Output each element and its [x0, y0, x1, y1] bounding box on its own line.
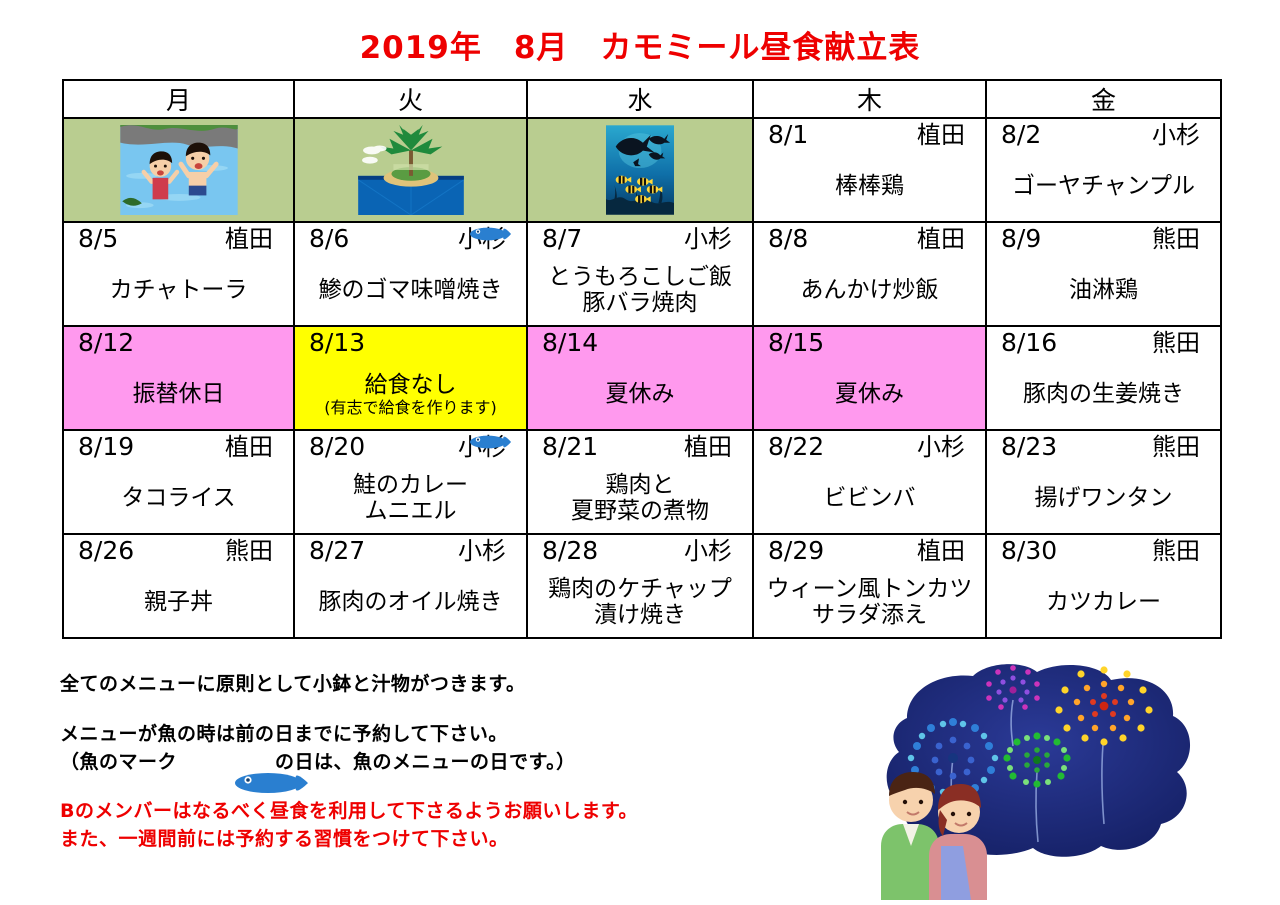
day-date: 8/20: [309, 434, 365, 459]
day-menu-main: 夏休み: [835, 382, 904, 408]
calendar-day-cell[interactable]: 8/19植田タコライス: [63, 430, 294, 534]
day-date: 8/14: [542, 330, 598, 355]
calendar-day-cell[interactable]: 8/12振替休日: [63, 326, 294, 430]
day-menu-text: あんかけ炒飯: [754, 261, 985, 321]
weekday-header-wed: 水: [527, 80, 753, 118]
day-cell-header: 8/27小杉: [295, 535, 526, 567]
day-staff-name: 熊田: [1152, 227, 1206, 251]
day-menu-text: ウィーン風トンカツ サラダ添え: [754, 573, 985, 633]
day-menu-text: カツカレー: [987, 573, 1220, 633]
day-menu-main: カチャトーラ: [110, 278, 248, 304]
day-menu-text: 給食なし(有志で給食を作ります): [295, 365, 526, 425]
day-cell-header: 8/2小杉: [987, 119, 1220, 151]
day-staff-name: 小杉: [458, 539, 512, 563]
day-date: 8/1: [768, 122, 808, 147]
day-cell-header: 8/21植田: [528, 431, 752, 463]
day-cell-header: 8/5植田: [64, 223, 293, 255]
day-cell-header: 8/26熊田: [64, 535, 293, 567]
day-menu-text: 油淋鶏: [987, 261, 1220, 321]
fish-icon: [466, 223, 514, 245]
day-cell-header: 8/1植田: [754, 119, 985, 151]
note-side-dishes: 全てのメニューに原則として小鉢と汁物がつきます。: [60, 672, 820, 698]
calendar-day-cell[interactable]: 8/29植田ウィーン風トンカツ サラダ添え: [753, 534, 986, 638]
day-menu-text: 鶏肉と 夏野菜の煮物: [528, 469, 752, 529]
day-date: 8/2: [1001, 122, 1041, 147]
calendar-day-cell[interactable]: 8/14夏休み: [527, 326, 753, 430]
day-menu-main: とうもろこしご飯 豚バラ焼肉: [548, 265, 732, 317]
day-staff-name: 熊田: [1152, 331, 1206, 355]
calendar-day-cell[interactable]: 8/20小杉鮭のカレー ムニエル: [294, 430, 527, 534]
day-menu-note: (有志で給食を作ります): [324, 399, 497, 417]
calendar-day-cell[interactable]: 8/8植田あんかけ炒飯: [753, 222, 986, 326]
day-menu-text: 鯵のゴマ味噌焼き: [295, 261, 526, 321]
calendar-day-cell[interactable]: 8/9熊田油淋鶏: [986, 222, 1221, 326]
calendar-day-cell[interactable]: 8/6小杉鯵のゴマ味噌焼き: [294, 222, 527, 326]
calendar-week-row: 8/19植田タコライス8/20小杉鮭のカレー ムニエル 8/21植田鶏肉と 夏野…: [63, 430, 1221, 534]
calendar-day-cell[interactable]: 8/5植田カチャトーラ: [63, 222, 294, 326]
day-menu-main: 振替休日: [133, 382, 225, 408]
calendar-day-cell[interactable]: 8/1植田棒棒鶏: [753, 118, 986, 222]
day-staff-name: 熊田: [1152, 435, 1206, 459]
day-menu-text: とうもろこしご飯 豚バラ焼肉: [528, 261, 752, 321]
calendar-day-cell[interactable]: 8/16熊田豚肉の生姜焼き: [986, 326, 1221, 430]
day-date: 8/9: [1001, 226, 1041, 251]
day-staff-name: 熊田: [225, 539, 279, 563]
couple-figure: [881, 772, 987, 900]
day-staff-name: 小杉: [684, 539, 738, 563]
day-menu-main: ウィーン風トンカツ サラダ添え: [767, 577, 973, 629]
calendar-day-cell[interactable]: 8/26熊田親子丼: [63, 534, 294, 638]
day-menu-main: ビビンバ: [824, 486, 916, 512]
day-date: 8/21: [542, 434, 598, 459]
day-menu-main: 鯵のゴマ味噌焼き: [319, 278, 503, 304]
day-staff-name: 小杉: [1152, 123, 1206, 147]
fish-icon: [183, 748, 269, 774]
note-request-week-ahead: また、一週間前には予約する習慣をつけて下さい。: [60, 826, 820, 854]
day-menu-text: ビビンバ: [754, 469, 985, 529]
tropical-island-illustration: [294, 118, 527, 222]
day-date: 8/13: [309, 330, 365, 355]
day-date: 8/6: [309, 226, 349, 251]
day-cell-header: 8/14: [528, 327, 752, 359]
day-menu-text: ゴーヤチャンプル: [987, 157, 1220, 217]
kids-swimming-illustration: [64, 119, 293, 221]
calendar-body: 8/1植田棒棒鶏8/2小杉ゴーヤチャンプル8/5植田カチャトーラ8/6小杉鯵のゴ…: [63, 118, 1221, 638]
weekday-header-fri: 金: [986, 80, 1221, 118]
day-menu-text: 親子丼: [64, 573, 293, 633]
day-cell-header: 8/30熊田: [987, 535, 1220, 567]
day-date: 8/5: [78, 226, 118, 251]
day-menu-main: 親子丼: [144, 590, 213, 616]
calendar-week-row: 8/12振替休日8/13給食なし(有志で給食を作ります)8/14夏休み8/15夏…: [63, 326, 1221, 430]
day-date: 8/16: [1001, 330, 1057, 355]
day-cell-header: 8/22小杉: [754, 431, 985, 463]
day-date: 8/27: [309, 538, 365, 563]
day-cell-header: 8/23熊田: [987, 431, 1220, 463]
day-date: 8/28: [542, 538, 598, 563]
day-menu-text: 夏休み: [528, 365, 752, 425]
day-staff-name: 植田: [917, 539, 971, 563]
day-date: 8/8: [768, 226, 808, 251]
calendar-header-row: 月 火 水 木 金: [63, 80, 1221, 118]
day-staff-name: 熊田: [1152, 539, 1206, 563]
underwater-sharks-illustration: [527, 118, 753, 222]
day-staff-name: 小杉: [684, 227, 738, 251]
day-menu-main: 給食なし: [365, 373, 457, 399]
day-menu-text: 豚肉の生姜焼き: [987, 365, 1220, 425]
day-menu-main: ゴーヤチャンプル: [1012, 174, 1195, 200]
underwater-sharks-illustration: [528, 119, 752, 221]
calendar-day-cell[interactable]: 8/23熊田揚げワンタン: [986, 430, 1221, 534]
day-date: 8/22: [768, 434, 824, 459]
calendar-table: 月 火 水 木 金: [62, 79, 1222, 639]
calendar-week-row: 8/1植田棒棒鶏8/2小杉ゴーヤチャンプル: [63, 118, 1221, 222]
day-staff-name: 植田: [917, 123, 971, 147]
calendar-day-cell[interactable]: 8/22小杉ビビンバ: [753, 430, 986, 534]
note-fish-legend-before: （魚のマーク: [60, 747, 177, 774]
calendar-day-cell[interactable]: 8/7小杉とうもろこしご飯 豚バラ焼肉: [527, 222, 753, 326]
note-fish-legend-after: の日は、魚のメニューの日です。）: [275, 747, 576, 774]
day-cell-header: 8/19植田: [64, 431, 293, 463]
day-cell-header: 8/7小杉: [528, 223, 752, 255]
day-menu-text: タコライス: [64, 469, 293, 529]
day-cell-header: 8/29植田: [754, 535, 985, 567]
day-menu-text: 振替休日: [64, 365, 293, 425]
day-menu-main: 揚げワンタン: [1035, 486, 1173, 512]
calendar-week-row: 8/5植田カチャトーラ8/6小杉鯵のゴマ味噌焼き 8/7小杉とうもろこしご飯 豚…: [63, 222, 1221, 326]
calendar-day-cell[interactable]: 8/13給食なし(有志で給食を作ります): [294, 326, 527, 430]
day-date: 8/19: [78, 434, 134, 459]
day-cell-header: 8/28小杉: [528, 535, 752, 567]
day-menu-main: 棒棒鶏: [835, 174, 904, 200]
day-menu-text: 夏休み: [754, 365, 985, 425]
weekday-header-thu: 木: [753, 80, 986, 118]
day-date: 8/15: [768, 330, 824, 355]
weekday-header-tue: 火: [294, 80, 527, 118]
day-cell-header: 8/9熊田: [987, 223, 1220, 255]
page-title: 2019年 8月 カモミール昼食献立表: [0, 22, 1280, 67]
calendar-day-cell[interactable]: 8/27小杉豚肉のオイル焼き: [294, 534, 527, 638]
calendar-day-cell[interactable]: 8/15夏休み: [753, 326, 986, 430]
day-menu-main: 鮭のカレー ムニエル: [353, 473, 468, 525]
kids-swimming-illustration: [63, 118, 294, 222]
fireworks-couple-illustration: [855, 660, 1215, 900]
day-staff-name: 植田: [225, 227, 279, 251]
calendar-day-cell[interactable]: 8/30熊田カツカレー: [986, 534, 1221, 638]
day-menu-text: 鮭のカレー ムニエル: [295, 469, 526, 529]
day-menu-main: 鶏肉のケチャップ 漬け焼き: [548, 577, 732, 629]
day-cell-header: 8/12: [64, 327, 293, 359]
day-menu-main: カツカレー: [1046, 590, 1161, 616]
footer-notes: 全てのメニューに原則として小鉢と汁物がつきます。 メニューが魚の時は前の日までに…: [60, 672, 820, 853]
note-fish-reservation: メニューが魚の時は前の日までに予約して下さい。: [60, 722, 820, 748]
day-staff-name: 小杉: [917, 435, 971, 459]
day-menu-text: 鶏肉のケチャップ 漬け焼き: [528, 573, 752, 633]
day-staff-name: 植田: [684, 435, 738, 459]
day-menu-text: 棒棒鶏: [754, 157, 985, 217]
day-date: 8/30: [1001, 538, 1057, 563]
day-cell-header: 8/13: [295, 327, 526, 359]
note-fish-mark-legend: （魚のマーク の日は、魚のメニューの日です。）: [60, 747, 820, 774]
weekday-header-mon: 月: [63, 80, 294, 118]
day-menu-main: 豚肉の生姜焼き: [1023, 382, 1184, 408]
fish-icon: [466, 431, 514, 453]
day-date: 8/12: [78, 330, 134, 355]
day-cell-header: 8/16熊田: [987, 327, 1220, 359]
calendar-week-row: 8/26熊田親子丼8/27小杉豚肉のオイル焼き8/28小杉鶏肉のケチャップ 漬け…: [63, 534, 1221, 638]
calendar-day-cell[interactable]: 8/21植田鶏肉と 夏野菜の煮物: [527, 430, 753, 534]
calendar-day-cell[interactable]: 8/2小杉ゴーヤチャンプル: [986, 118, 1221, 222]
day-cell-header: 8/8植田: [754, 223, 985, 255]
day-menu-main: タコライス: [121, 486, 235, 512]
day-menu-text: 揚げワンタン: [987, 469, 1220, 529]
day-cell-header: 8/15: [754, 327, 985, 359]
day-date: 8/29: [768, 538, 824, 563]
day-date: 8/26: [78, 538, 134, 563]
note-request-b-members: Bのメンバーはなるべく昼食を利用して下さるようお願いします。: [60, 798, 820, 826]
day-date: 8/23: [1001, 434, 1057, 459]
day-menu-main: 鶏肉と 夏野菜の煮物: [571, 473, 709, 525]
day-staff-name: 植田: [917, 227, 971, 251]
day-menu-text: カチャトーラ: [64, 261, 293, 321]
day-date: 8/7: [542, 226, 582, 251]
calendar-day-cell[interactable]: 8/28小杉鶏肉のケチャップ 漬け焼き: [527, 534, 753, 638]
day-menu-main: あんかけ炒飯: [801, 278, 939, 304]
day-menu-text: 豚肉のオイル焼き: [295, 573, 526, 633]
day-staff-name: 植田: [225, 435, 279, 459]
day-menu-main: 豚肉のオイル焼き: [319, 590, 503, 616]
tropical-island-illustration: [295, 119, 526, 221]
day-menu-main: 夏休み: [606, 382, 675, 408]
menu-calendar: 月 火 水 木 金: [62, 79, 1220, 639]
day-menu-main: 油淋鶏: [1069, 278, 1138, 304]
